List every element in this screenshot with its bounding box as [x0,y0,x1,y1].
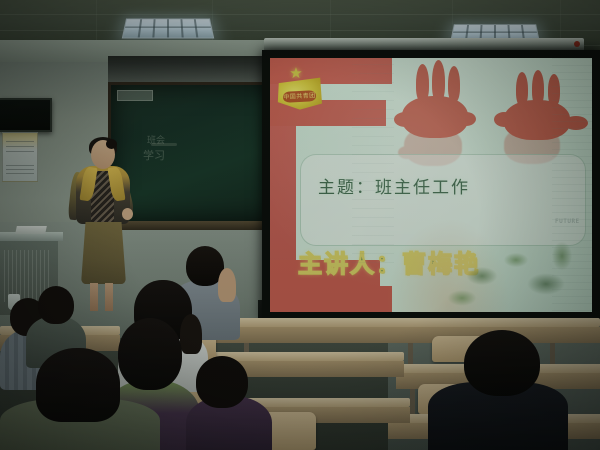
audience-person-olive-shirt [0,348,160,450]
emblem-band: 中国共青团 [283,90,317,103]
ceiling-light-left [122,19,214,39]
audience-person-dark-jacket-right [428,330,568,450]
wall-poster [2,132,38,182]
slide-title-text: 主题：班主任工作 [318,173,470,198]
emblem-band-text: 中国共青团 [283,90,317,103]
audience-person-purple-top [186,356,272,450]
chalk-note-2: 学习 [143,147,165,163]
communist-youth-league-emblem: ★ 中国共青团 [276,64,322,120]
slide-ghost-overlay-right: FUTURE [552,58,592,312]
classroom-photo: 班会 学习 ★ 中国共青团 [0,0,600,450]
roller-endcap [574,41,580,47]
slide-bottom-band-2 [270,286,392,312]
slide-ghost-overlay-mid [352,64,394,264]
ghost-text: FUTURE [555,218,580,225]
papers-on-counter [15,226,47,234]
star-icon: ★ [289,66,303,80]
board-placard [117,90,153,101]
presentation-slide: ★ 中国共青团 [270,58,592,312]
wall-monitor [0,98,52,132]
